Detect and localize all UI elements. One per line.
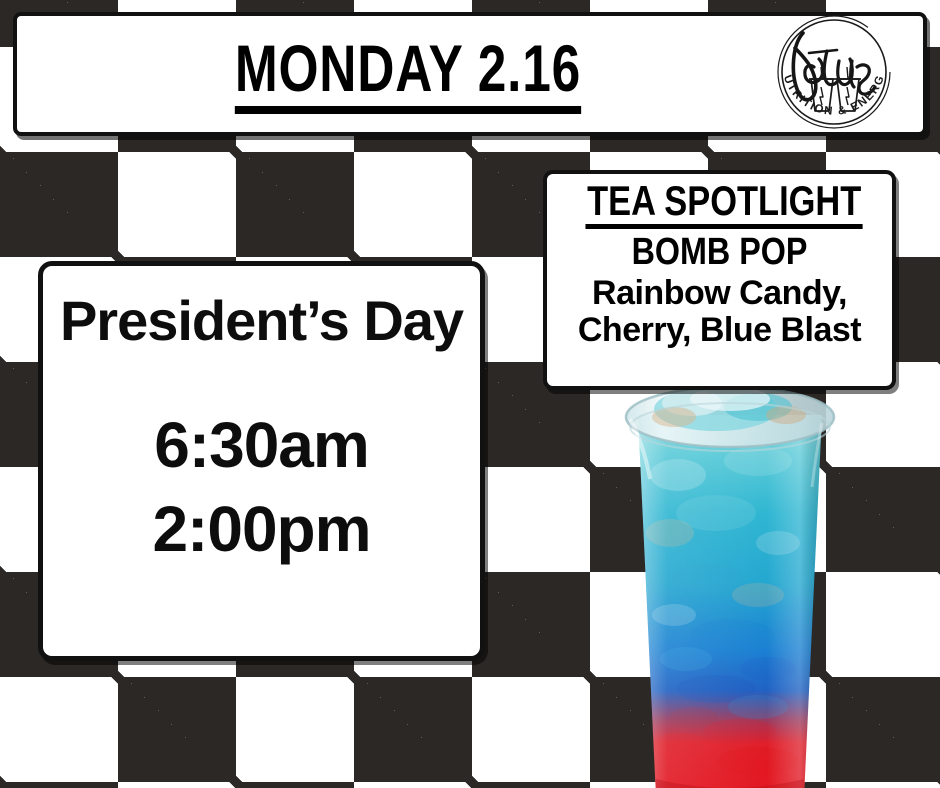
lotus-logo: NUTRITION & ENERGY [759,15,909,133]
tea-spotlight-heading: TEA SPOTLIGHT [585,180,863,229]
date-banner: MONDAY 2.16 [13,12,927,136]
tea-spotlight-name: BOMB POP [580,233,860,273]
tea-spotlight-card: TEA SPOTLIGHT BOMB POP Rainbow Candy, Ch… [543,170,896,390]
tea-spotlight-description: Rainbow Candy, Cherry, Blue Blast [555,275,884,348]
date-banner-title-wrap: MONDAY 2.16 [17,35,759,114]
date-title: MONDAY 2.16 [235,35,581,114]
hours-close-time: 2:00pm [43,487,480,571]
hours-open-time: 6:30am [43,403,480,487]
poster-canvas: MONDAY 2.16 [0,0,940,788]
drink-photo [608,383,852,788]
hours-card-title: President’s Day [43,292,480,351]
hours-list: 6:30am 2:00pm [43,403,480,572]
hours-card: President’s Day 6:30am 2:00pm [38,261,485,661]
